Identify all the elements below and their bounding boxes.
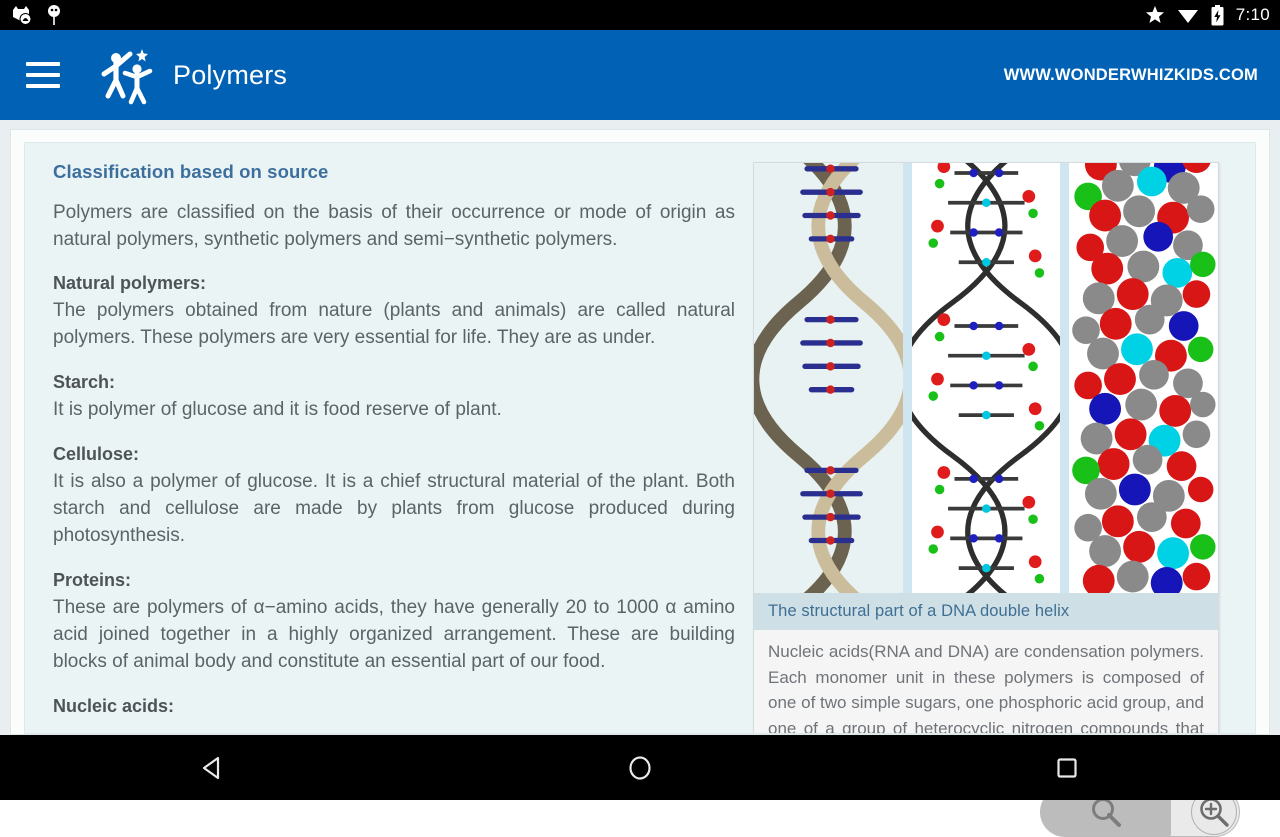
- star-icon: [1145, 5, 1165, 25]
- subsection-heading: Cellulose:: [53, 444, 735, 465]
- nav-back-button[interactable]: [0, 735, 427, 800]
- section-heading: Classification based on source: [53, 161, 735, 183]
- subsection-body: These are polymers of α−amino acids, the…: [53, 594, 735, 675]
- subsection-natural-polymers: Natural polymers: The polymers obtained …: [53, 273, 735, 351]
- magnifier-minus-icon: [1089, 795, 1123, 829]
- subsection-body: It is polymer of glucose and it is food …: [53, 396, 735, 423]
- magnifier-plus-icon: [1198, 796, 1230, 828]
- lesson-text-column: Classification based on source Polymers …: [53, 161, 753, 733]
- image-separator: [1060, 163, 1069, 593]
- content-card: Classification based on source Polymers …: [10, 129, 1270, 735]
- subsection-heading: Nucleic acids:: [53, 696, 735, 717]
- nav-home-button[interactable]: [427, 735, 854, 800]
- subsection-body: The polymers obtained from nature (plant…: [53, 297, 735, 351]
- dna-space-filling-image: [1069, 163, 1218, 593]
- status-clock: 7:10: [1236, 5, 1270, 25]
- intro-paragraph: Polymers are classified on the basis of …: [53, 199, 735, 253]
- figure-frame: The structural part of a DNA double heli…: [753, 162, 1219, 734]
- subsection-heading: Proteins:: [53, 570, 735, 591]
- app-notification-icon: [10, 4, 32, 26]
- subsection-body: It is also a polymer of glucose. It is a…: [53, 468, 735, 549]
- status-notification-icons: [10, 4, 62, 26]
- figure-column: The structural part of a DNA double heli…: [753, 161, 1233, 733]
- app-notification-icon-2: [46, 4, 62, 26]
- android-navigation-bar: [0, 735, 1280, 800]
- android-status-bar: 7:10: [0, 0, 1280, 30]
- status-system-icons: 7:10: [1145, 5, 1270, 26]
- lesson-panel: Classification based on source Polymers …: [24, 142, 1256, 734]
- subsection-cellulose: Cellulose: It is also a polymer of gluco…: [53, 444, 735, 549]
- app-bar: Polymers WWW.WONDERWHIZKIDS.COM: [0, 30, 1280, 120]
- back-triangle-icon: [198, 753, 228, 783]
- home-circle-icon: [625, 753, 655, 783]
- wifi-icon: [1177, 6, 1199, 24]
- hamburger-menu-icon[interactable]: [26, 62, 60, 88]
- image-separator: [903, 163, 912, 593]
- nav-recents-button[interactable]: [853, 735, 1280, 800]
- figure-body-text: Nucleic acids(RNA and DNA) are condensat…: [754, 630, 1218, 734]
- brand-url-label: WWW.WONDERWHIZKIDS.COM: [1004, 66, 1268, 85]
- dna-ball-and-stick-image: [912, 163, 1061, 593]
- recents-square-icon: [1052, 753, 1082, 783]
- dna-image-strip: [754, 163, 1218, 593]
- subsection-heading: Natural polymers:: [53, 273, 735, 294]
- figure-caption: The structural part of a DNA double heli…: [754, 593, 1218, 630]
- subsection-heading: Starch:: [53, 372, 735, 393]
- subsection-starch: Starch: It is polymer of glucose and it …: [53, 372, 735, 423]
- page-title: Polymers: [173, 60, 287, 91]
- dna-ribbon-helix-image: [754, 163, 903, 593]
- content-area: Classification based on source Polymers …: [0, 120, 1280, 735]
- subsection-proteins: Proteins: These are polymers of α−amino …: [53, 570, 735, 675]
- subsection-nucleic-acids: Nucleic acids:: [53, 696, 735, 717]
- wonderwhizkids-logo-icon: [95, 44, 157, 106]
- battery-charging-icon: [1211, 5, 1224, 26]
